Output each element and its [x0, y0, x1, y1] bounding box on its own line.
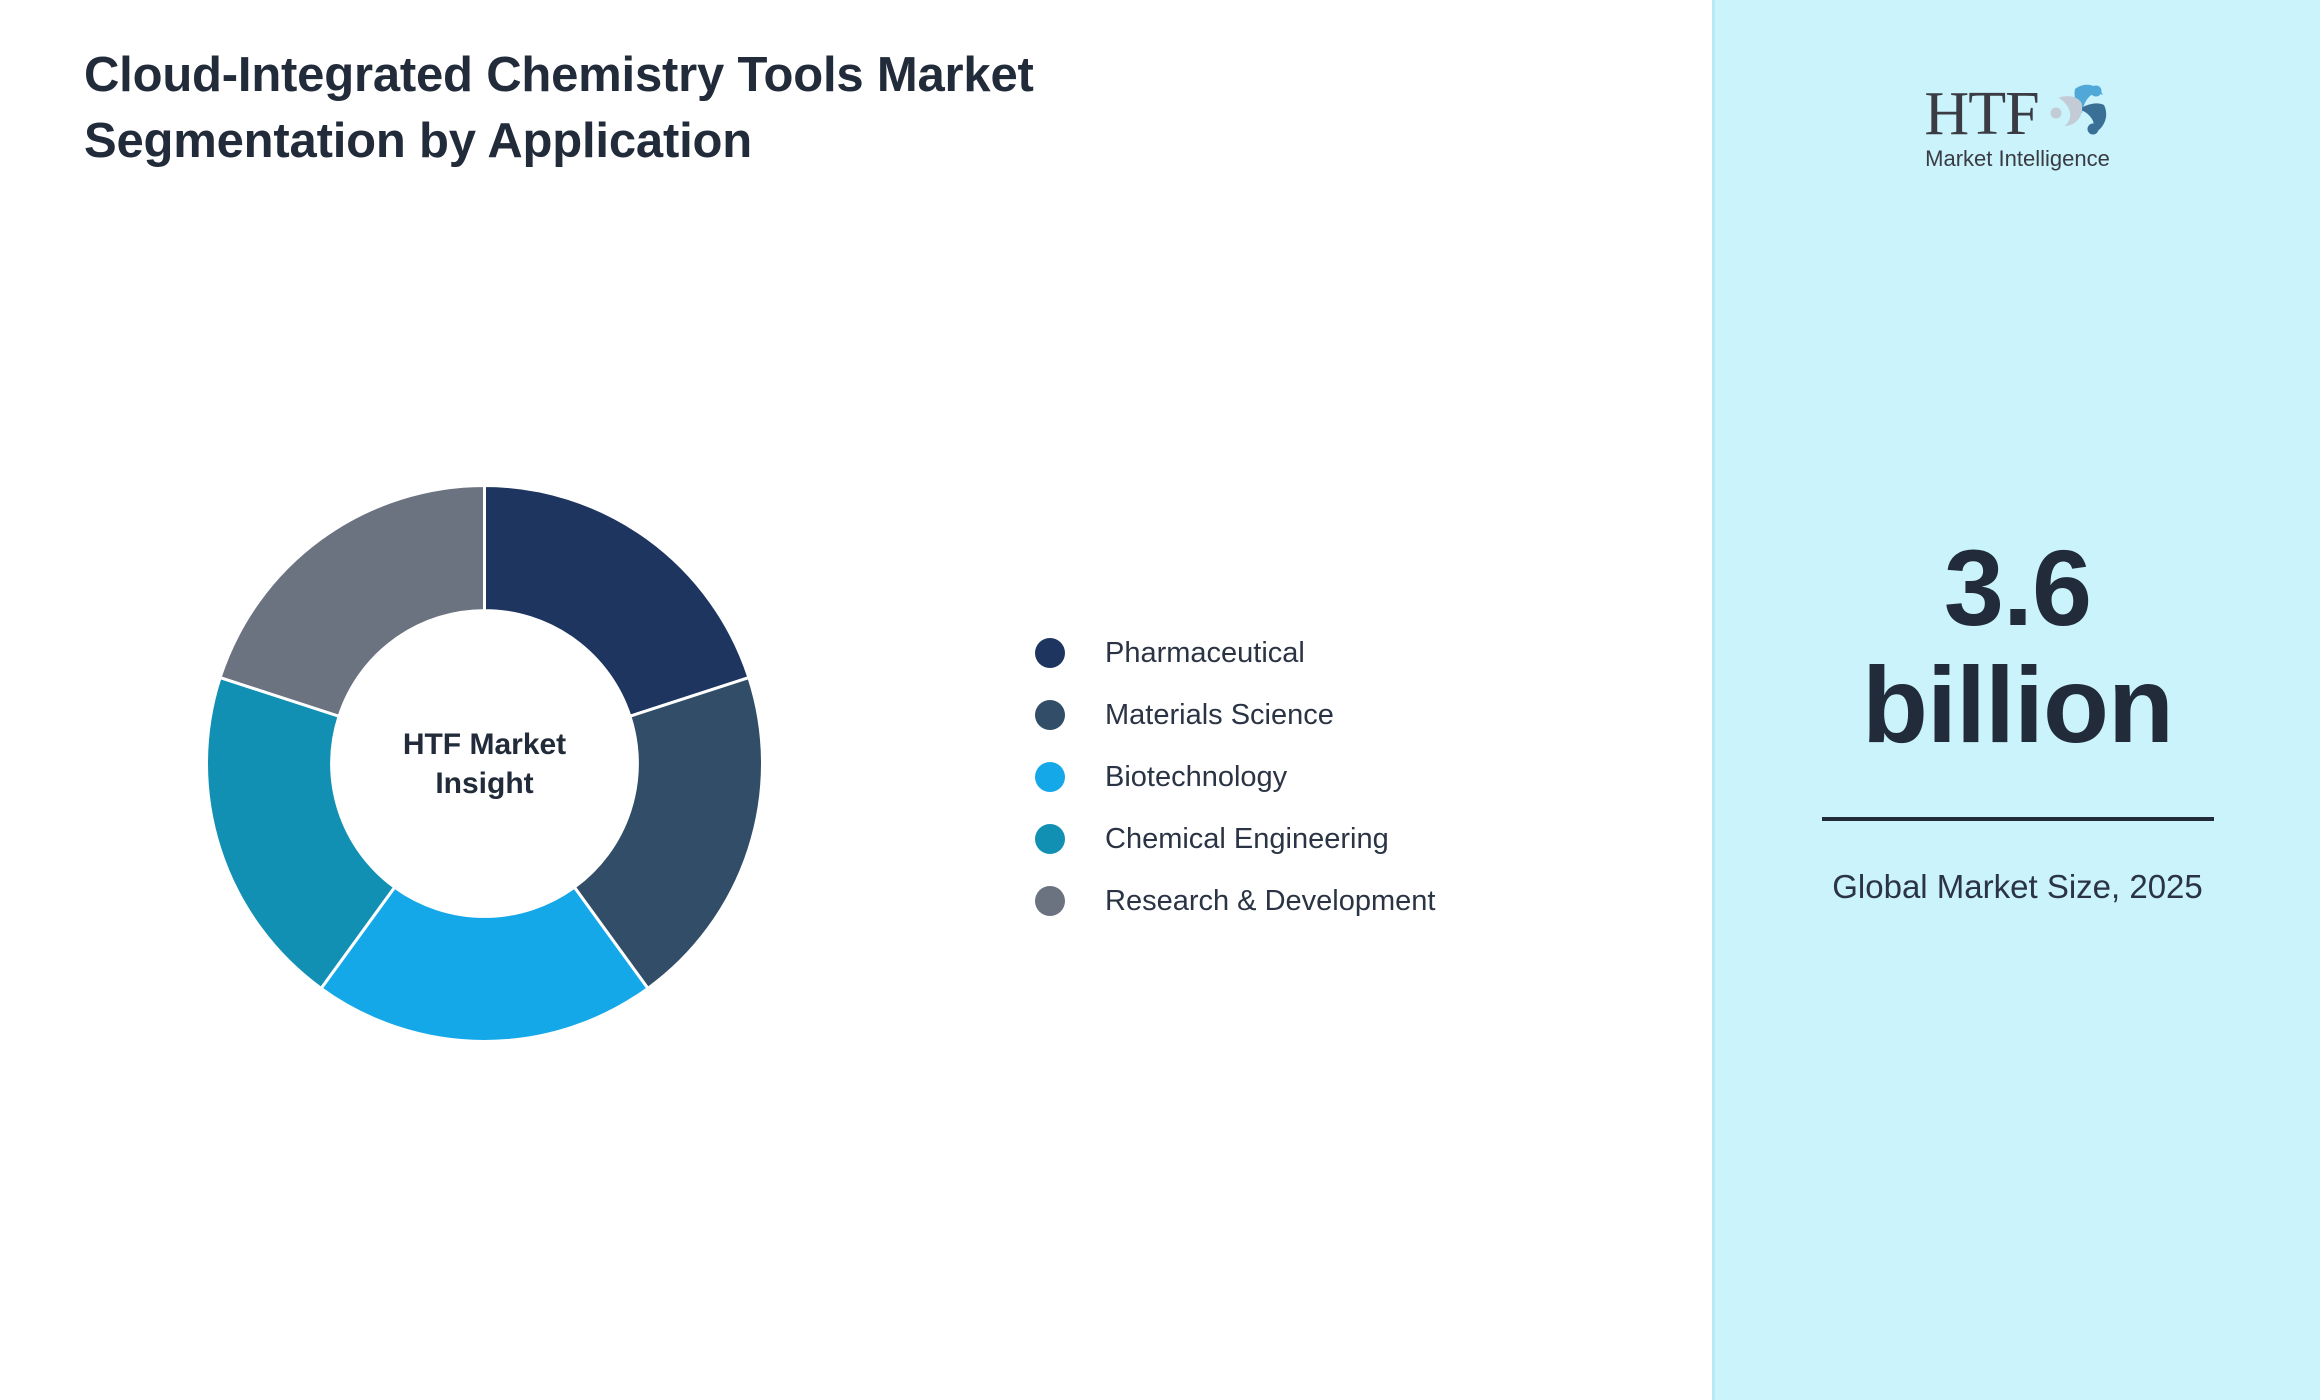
legend-item[interactable]: Chemical Engineering [1035, 808, 1435, 870]
legend-item-label: Pharmaceutical [1105, 637, 1305, 670]
donut-slice[interactable] [485, 486, 749, 717]
logo-wordmark-row: HTF [1924, 78, 2110, 150]
market-size-stat: 3.6 billion Global Market Size, 2025 [1808, 530, 2228, 911]
legend-item[interactable]: Pharmaceutical [1035, 622, 1435, 684]
logo-wordmark-text: HTF [1924, 83, 2038, 145]
htf-swirl-logo-icon [2041, 79, 2111, 150]
legend-swatch-icon [1035, 700, 1065, 730]
stat-divider [1822, 817, 2214, 821]
stat-caption: Global Market Size, 2025 [1808, 863, 2228, 911]
stat-value: 3.6 billion [1808, 530, 2228, 763]
legend-item-label: Materials Science [1105, 699, 1334, 732]
sidebar-panel: HTF [1712, 0, 2320, 1400]
page-title: Cloud-Integrated Chemistry Tools Market … [84, 42, 1084, 174]
donut-chart-svg [206, 485, 763, 1042]
donut-slice[interactable] [220, 486, 484, 717]
donut-slice-group [207, 486, 763, 1042]
legend-swatch-icon [1035, 824, 1065, 854]
legend-swatch-icon [1035, 638, 1065, 668]
legend-item-label: Biotechnology [1105, 761, 1287, 794]
legend-swatch-icon [1035, 762, 1065, 792]
legend-item-label: Chemical Engineering [1105, 823, 1389, 856]
chart-legend: PharmaceuticalMaterials ScienceBiotechno… [1035, 622, 1435, 932]
legend-swatch-icon [1035, 886, 1065, 916]
legend-item[interactable]: Biotechnology [1035, 746, 1435, 808]
htf-logo: HTF [1893, 78, 2143, 188]
legend-item[interactable]: Materials Science [1035, 684, 1435, 746]
legend-item-label: Research & Development [1105, 885, 1435, 918]
infographic-root: Cloud-Integrated Chemistry Tools Market … [0, 0, 2320, 1400]
chart-panel: Cloud-Integrated Chemistry Tools Market … [0, 0, 1712, 1400]
donut-chart: HTF Market Insight [206, 485, 763, 1042]
legend-item[interactable]: Research & Development [1035, 870, 1435, 932]
logo-tagline: Market Intelligence [1925, 146, 2110, 172]
